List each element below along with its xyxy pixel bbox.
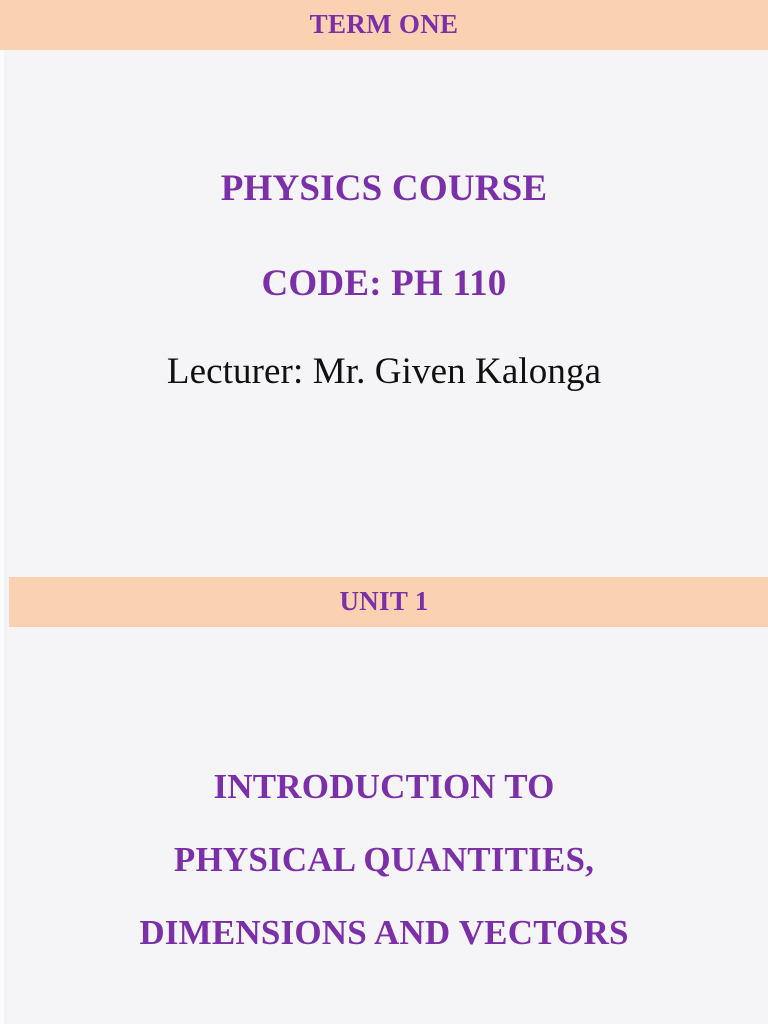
- unit-banner-label: UNIT 1: [339, 588, 428, 615]
- unit-banner: UNIT 1: [0, 577, 768, 627]
- slide-root: TERM ONE PHYSICS COURSE CODE: PH 110 Lec…: [0, 0, 768, 1024]
- course-code: CODE: PH 110: [262, 263, 507, 306]
- term-banner-label: TERM ONE: [310, 11, 459, 38]
- unit-title-block: INTRODUCTION TO PHYSICAL QUANTITIES, DIM…: [0, 627, 768, 1024]
- lecturer-name: Lecturer: Mr. Given Kalonga: [167, 351, 601, 394]
- unit-title-line-1: INTRODUCTION TO: [213, 769, 554, 804]
- term-banner: TERM ONE: [0, 0, 768, 50]
- unit-title-line-2: PHYSICAL QUANTITIES,: [174, 842, 594, 877]
- course-title: PHYSICS COURSE: [221, 168, 548, 211]
- course-info-block: PHYSICS COURSE CODE: PH 110 Lecturer: Mr…: [0, 50, 768, 577]
- unit-title-line-3: DIMENSIONS AND VECTORS: [139, 915, 628, 950]
